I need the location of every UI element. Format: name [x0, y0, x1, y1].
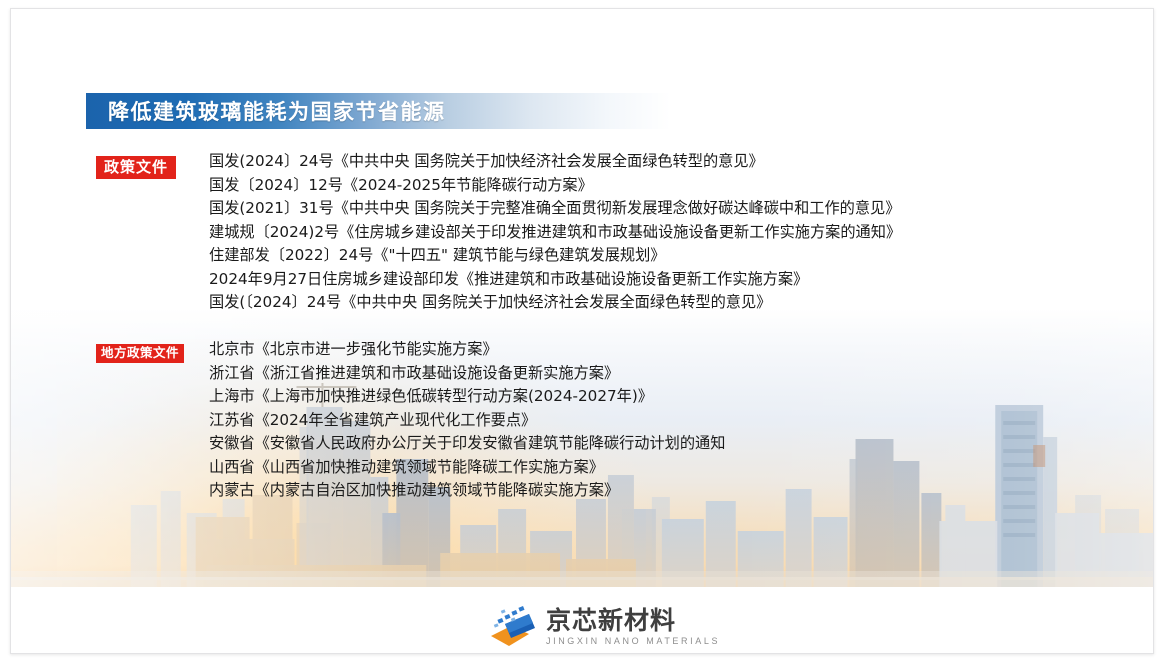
jingxin-logo-icon — [489, 606, 537, 648]
list-item[interactable]: 上海市《上海市加快推进绿色低碳转型行动方案(2024-2027年)》 — [209, 385, 725, 409]
list-item[interactable]: 内蒙古《内蒙古自治区加快推动建筑领域节能降碳实施方案》 — [209, 479, 725, 503]
badge-national-policy: 政策文件 — [96, 156, 176, 179]
slide-canvas: 降低建筑玻璃能耗为国家节省能源 政策文件 国发(2024〕24号《中共中央 国务… — [10, 8, 1154, 654]
list-item[interactable]: 国发(〔2024〕24号《中共中央 国务院关于加快经济社会发展全面绿色转型的意见… — [209, 291, 901, 315]
logo-chinese-name: 京芯新材料 — [546, 607, 720, 634]
list-item[interactable]: 安徽省《安徽省人民政府办公厅关于印发安徽省建筑节能降碳行动计划的通知 — [209, 432, 725, 456]
logo-wordmark: 京芯新材料 JINGXIN NANO MATERIALS — [546, 607, 720, 647]
logo-english-name: JINGXIN NANO MATERIALS — [546, 635, 720, 647]
list-item[interactable]: 北京市《北京市进一步强化节能实施方案》 — [209, 338, 725, 362]
company-logo: 京芯新材料 JINGXIN NANO MATERIALS — [489, 606, 720, 648]
list-item[interactable]: 国发〔2024〕12号《2024-2025年节能降碳行动方案》 — [209, 174, 901, 198]
list-item[interactable]: 江苏省《2024年全省建筑产业现代化工作要点》 — [209, 409, 725, 433]
list-item[interactable]: 浙江省《浙江省推进建筑和市政基础设施设备更新实施方案》 — [209, 362, 725, 386]
list-item[interactable]: 国发(2021〕31号《中共中央 国务院关于完整准确全面贯彻新发展理念做好碳达峰… — [209, 197, 901, 221]
badge-local-policy: 地方政策文件 — [96, 344, 184, 363]
page-title: 降低建筑玻璃能耗为国家节省能源 — [108, 96, 446, 126]
list-item[interactable]: 2024年9月27日住房城乡建设部印发《推进建筑和市政基础设施设备更新工作实施方… — [209, 268, 901, 292]
list-item[interactable]: 国发(2024〕24号《中共中央 国务院关于加快经济社会发展全面绿色转型的意见》 — [209, 150, 901, 174]
list-item[interactable]: 住建部发〔2022〕24号《"十四五" 建筑节能与绿色建筑发展规划》 — [209, 244, 901, 268]
national-policy-list: 国发(2024〕24号《中共中央 国务院关于加快经济社会发展全面绿色转型的意见》… — [209, 150, 901, 315]
local-policy-list: 北京市《北京市进一步强化节能实施方案》 浙江省《浙江省推进建筑和市政基础设施设备… — [209, 338, 725, 503]
list-item[interactable]: 山西省《山西省加快推动建筑领域节能降碳工作实施方案》 — [209, 456, 725, 480]
slide-title-bar: 降低建筑玻璃能耗为国家节省能源 — [86, 93, 671, 129]
list-item[interactable]: 建城规〔2024)2号《住房城乡建设部关于印发推进建筑和市政基础设施设备更新工作… — [209, 221, 901, 245]
